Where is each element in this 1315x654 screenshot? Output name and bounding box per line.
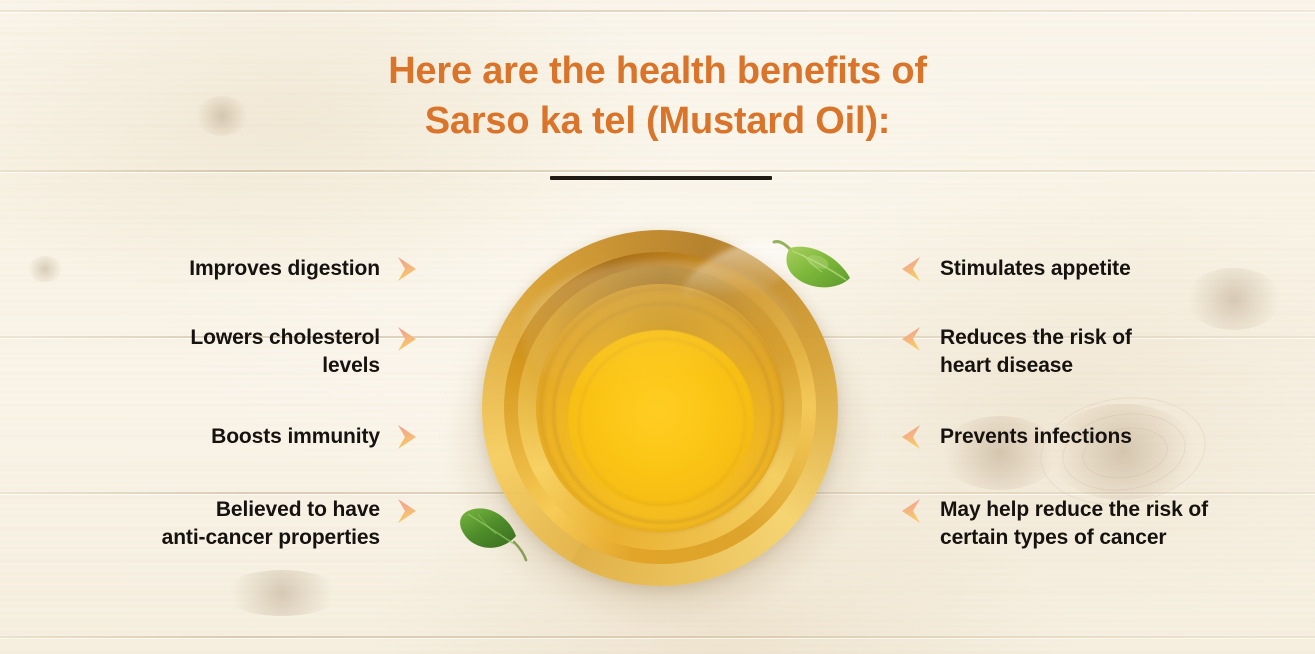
benefit-item-right-2[interactable]: Reduces the risk of heart disease: [898, 322, 1315, 382]
benefit-label: Improves digestion: [189, 255, 380, 283]
plank-divider: [0, 170, 1315, 172]
benefit-label: Stimulates appetite: [940, 255, 1131, 283]
benefit-item-right-3[interactable]: Prevents infections: [898, 420, 1315, 454]
chevron-right-icon: [394, 254, 420, 284]
benefit-label: Prevents infections: [940, 423, 1132, 451]
wood-knot: [222, 570, 342, 616]
chevron-left-icon: [898, 422, 924, 452]
benefit-label: Lowers cholesterol levels: [190, 324, 380, 380]
page-title-line-2: Sarso ka tel (Mustard Oil):: [0, 96, 1315, 146]
benefit-item-left-4[interactable]: Believed to have anti-cancer properties: [0, 494, 420, 554]
benefit-item-right-4[interactable]: May help reduce the risk of certain type…: [898, 494, 1315, 554]
title-underline: [550, 176, 772, 180]
mustard-leaf-icon: [766, 232, 862, 304]
benefit-item-left-2[interactable]: Lowers cholesterol levels: [0, 322, 420, 382]
chevron-right-icon: [394, 422, 420, 452]
chevron-left-icon: [898, 254, 924, 284]
plank-divider: [0, 10, 1315, 12]
chevron-left-icon: [898, 496, 924, 526]
benefit-label: May help reduce the risk of certain type…: [940, 496, 1208, 552]
chevron-right-icon: [394, 496, 420, 526]
mustard-leaf-icon: [450, 494, 536, 568]
benefit-label: Believed to have anti-cancer properties: [162, 496, 380, 552]
chevron-right-icon: [394, 324, 420, 354]
infographic-canvas: Here are the health benefits of Sarso ka…: [0, 0, 1315, 654]
page-title-line-1: Here are the health benefits of: [0, 46, 1315, 96]
benefit-item-left-3[interactable]: Boosts immunity: [0, 420, 420, 454]
benefit-label: Reduces the risk of heart disease: [940, 324, 1132, 380]
benefit-label: Boosts immunity: [211, 423, 380, 451]
chevron-left-icon: [898, 324, 924, 354]
benefit-item-right-1[interactable]: Stimulates appetite: [898, 252, 1315, 286]
benefit-item-left-1[interactable]: Improves digestion: [0, 252, 420, 286]
page-title: Here are the health benefits of Sarso ka…: [0, 46, 1315, 146]
plank-divider: [0, 636, 1315, 638]
